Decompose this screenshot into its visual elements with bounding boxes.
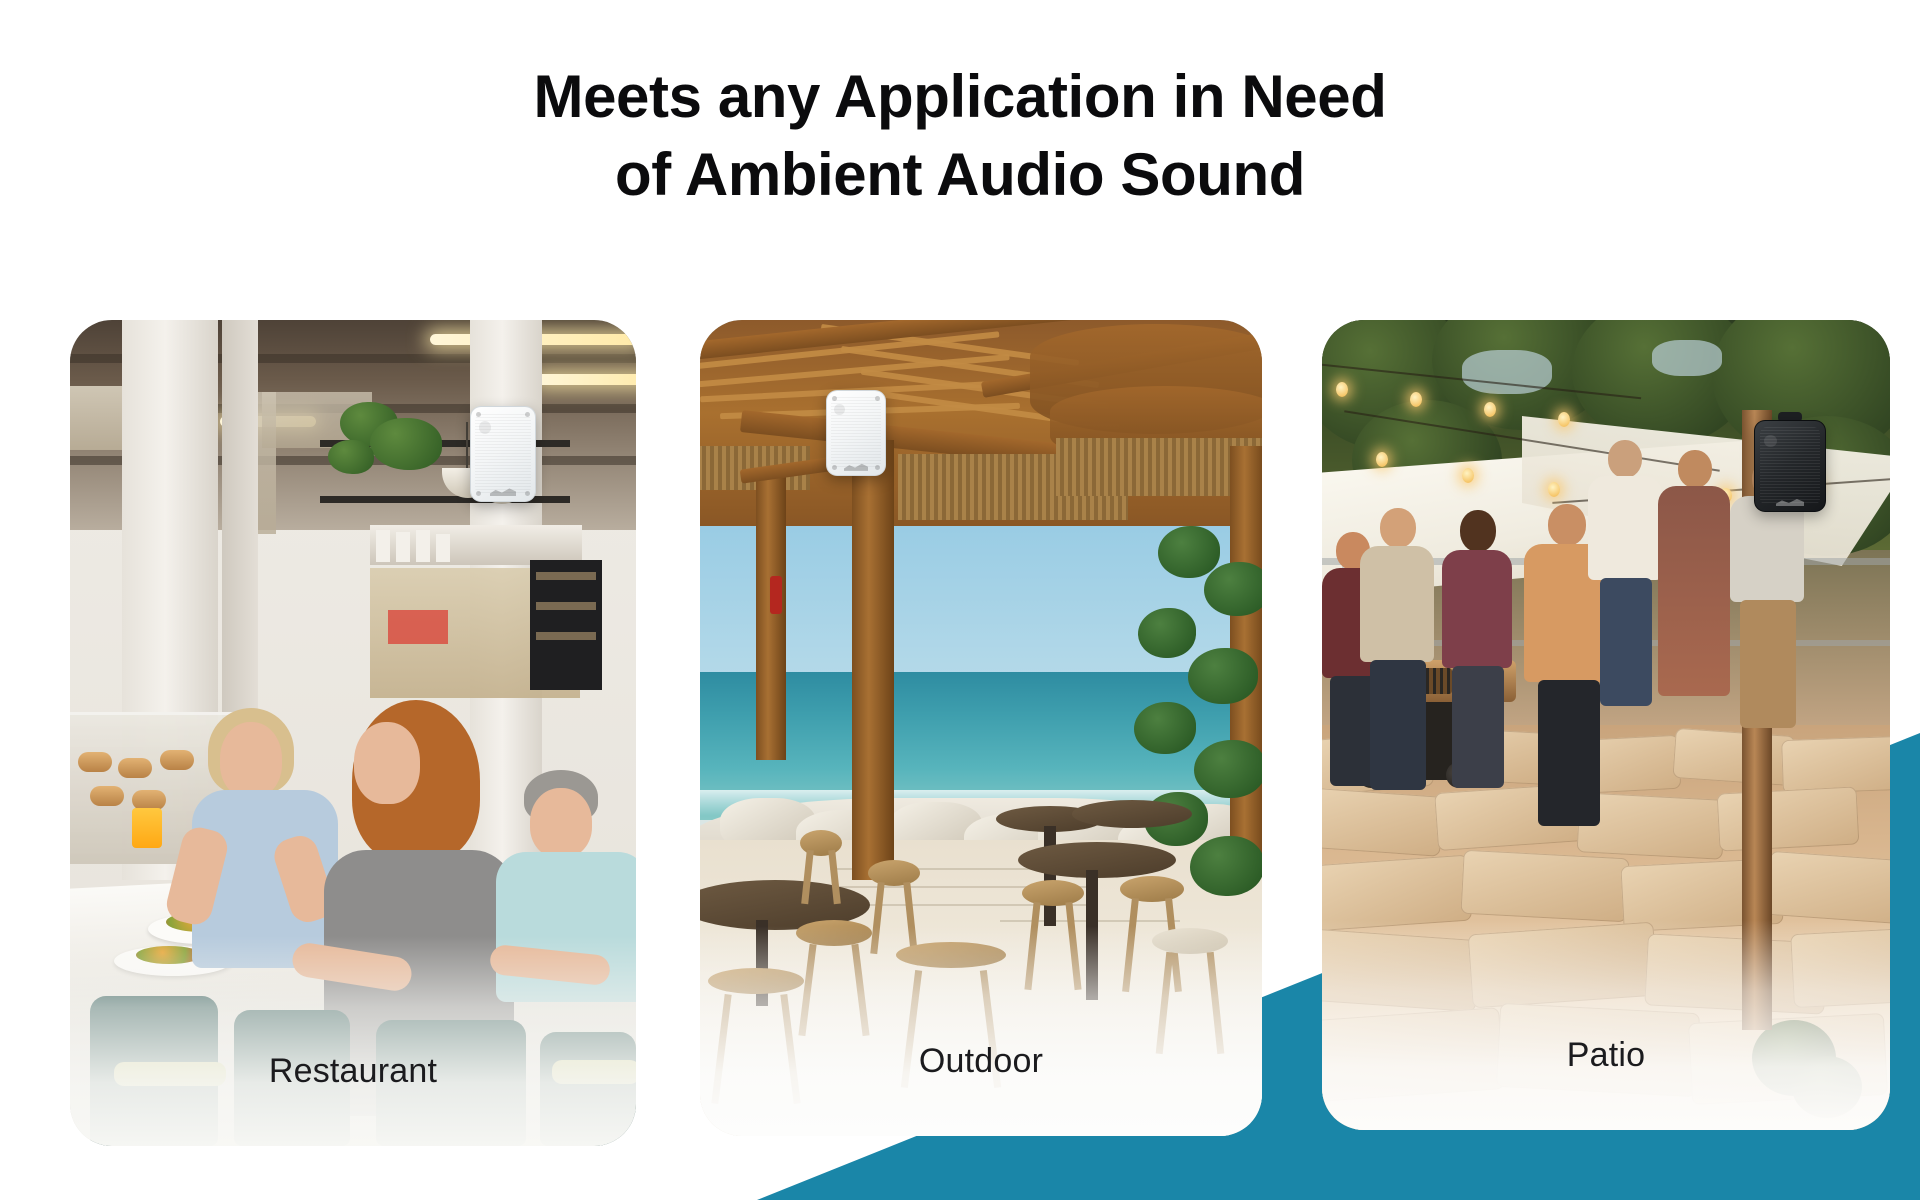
leaf [1134,702,1196,754]
page-title: Meets any Application in Need of Ambient… [0,58,1920,214]
page-title-line-1: Meets any Application in Need [0,58,1920,136]
legs [1452,666,1504,788]
card-label-outdoor: Outdoor [700,986,1262,1136]
pastry [90,786,124,806]
outdoor-photo: Outdoor [700,320,1262,1136]
back-shelf [536,602,596,610]
torso [1360,546,1434,662]
leaf [1194,740,1262,798]
light-bulb [1462,468,1474,483]
card-label-patio: Patio [1322,980,1890,1130]
speaker-screw [832,396,837,401]
sky-patch [1652,340,1722,376]
person-guest-3 [1440,510,1518,790]
face [530,788,592,858]
speaker-screw [875,465,880,470]
paving-stone [1460,850,1629,923]
back-bottle [436,534,450,562]
paving-stone [1766,851,1890,925]
speaker-tweeter-icon [1764,435,1777,447]
speaker-screw [525,412,530,417]
hanging-plant [370,418,442,470]
pastry [118,758,152,778]
hanging-plant [328,440,374,474]
light-bulb [1558,412,1570,427]
head [1608,440,1642,478]
light-bulb [1410,392,1422,407]
person-guest-2 [1360,508,1442,798]
light-bulb [1376,452,1388,467]
paving-stone [1717,786,1860,851]
back-shelf [536,572,596,580]
head [1460,510,1496,552]
head [1548,504,1586,546]
back-bottle [396,532,410,562]
pastry [78,752,112,772]
back-signage [388,610,448,644]
pastry [132,790,166,810]
pillar-edge [222,320,258,750]
wall-speaker-white[interactable] [470,406,536,502]
light-bulb [1336,382,1348,397]
wall-speaker-black[interactable] [1754,420,1826,512]
restaurant-photo: Restaurant [70,320,636,1146]
pergola-post [852,440,894,880]
patio-photo: Patio [1322,320,1890,1130]
application-card-outdoor[interactable]: Outdoor [700,320,1262,1136]
paving-stone [1672,728,1795,786]
pergola-post [756,470,786,760]
application-card-restaurant[interactable]: Restaurant [70,320,636,1146]
leaf [1188,648,1258,704]
bar-stool [800,830,842,904]
wall-speaker-white[interactable] [826,390,886,476]
application-cards: Restaurant [0,320,1920,1160]
back-shelf [536,632,596,640]
face [354,722,420,804]
torso [1442,550,1512,668]
speaker-screw [875,396,880,401]
torso [1588,476,1662,580]
face [220,722,282,798]
legs [1600,578,1652,706]
light-bulb [1484,402,1496,417]
head [1678,450,1712,488]
stool-seat [1022,880,1084,906]
leaf [1190,836,1262,896]
paving-stone [1781,736,1890,794]
stool-seat [868,860,920,886]
light-bulb [1548,482,1560,497]
stool-leg [828,850,841,904]
legs [1370,660,1426,790]
stool-leg [801,850,814,904]
card-label-restaurant: Restaurant [70,996,636,1146]
application-card-patio[interactable]: Patio [1322,320,1890,1130]
back-bottle [416,530,430,562]
leaf [1204,562,1262,616]
speaker-screw [476,412,481,417]
speaker-screw [525,491,530,496]
ceiling-light [536,374,636,385]
speaker-tweeter-icon [834,404,845,415]
legs [1740,600,1796,728]
speaker-screw [832,465,837,470]
head [1380,508,1416,548]
stool-seat [1120,876,1184,902]
back-bottle [376,530,390,562]
leaf [1138,608,1196,658]
juice-glass [132,808,162,848]
dress [1658,486,1730,696]
round-table [1072,800,1192,828]
leaf [1158,526,1220,578]
speaker-tweeter-icon [479,421,491,433]
speaker-screw [476,491,481,496]
fire-extinguisher [770,576,782,614]
page-title-line-2: of Ambient Audio Sound [0,136,1920,214]
